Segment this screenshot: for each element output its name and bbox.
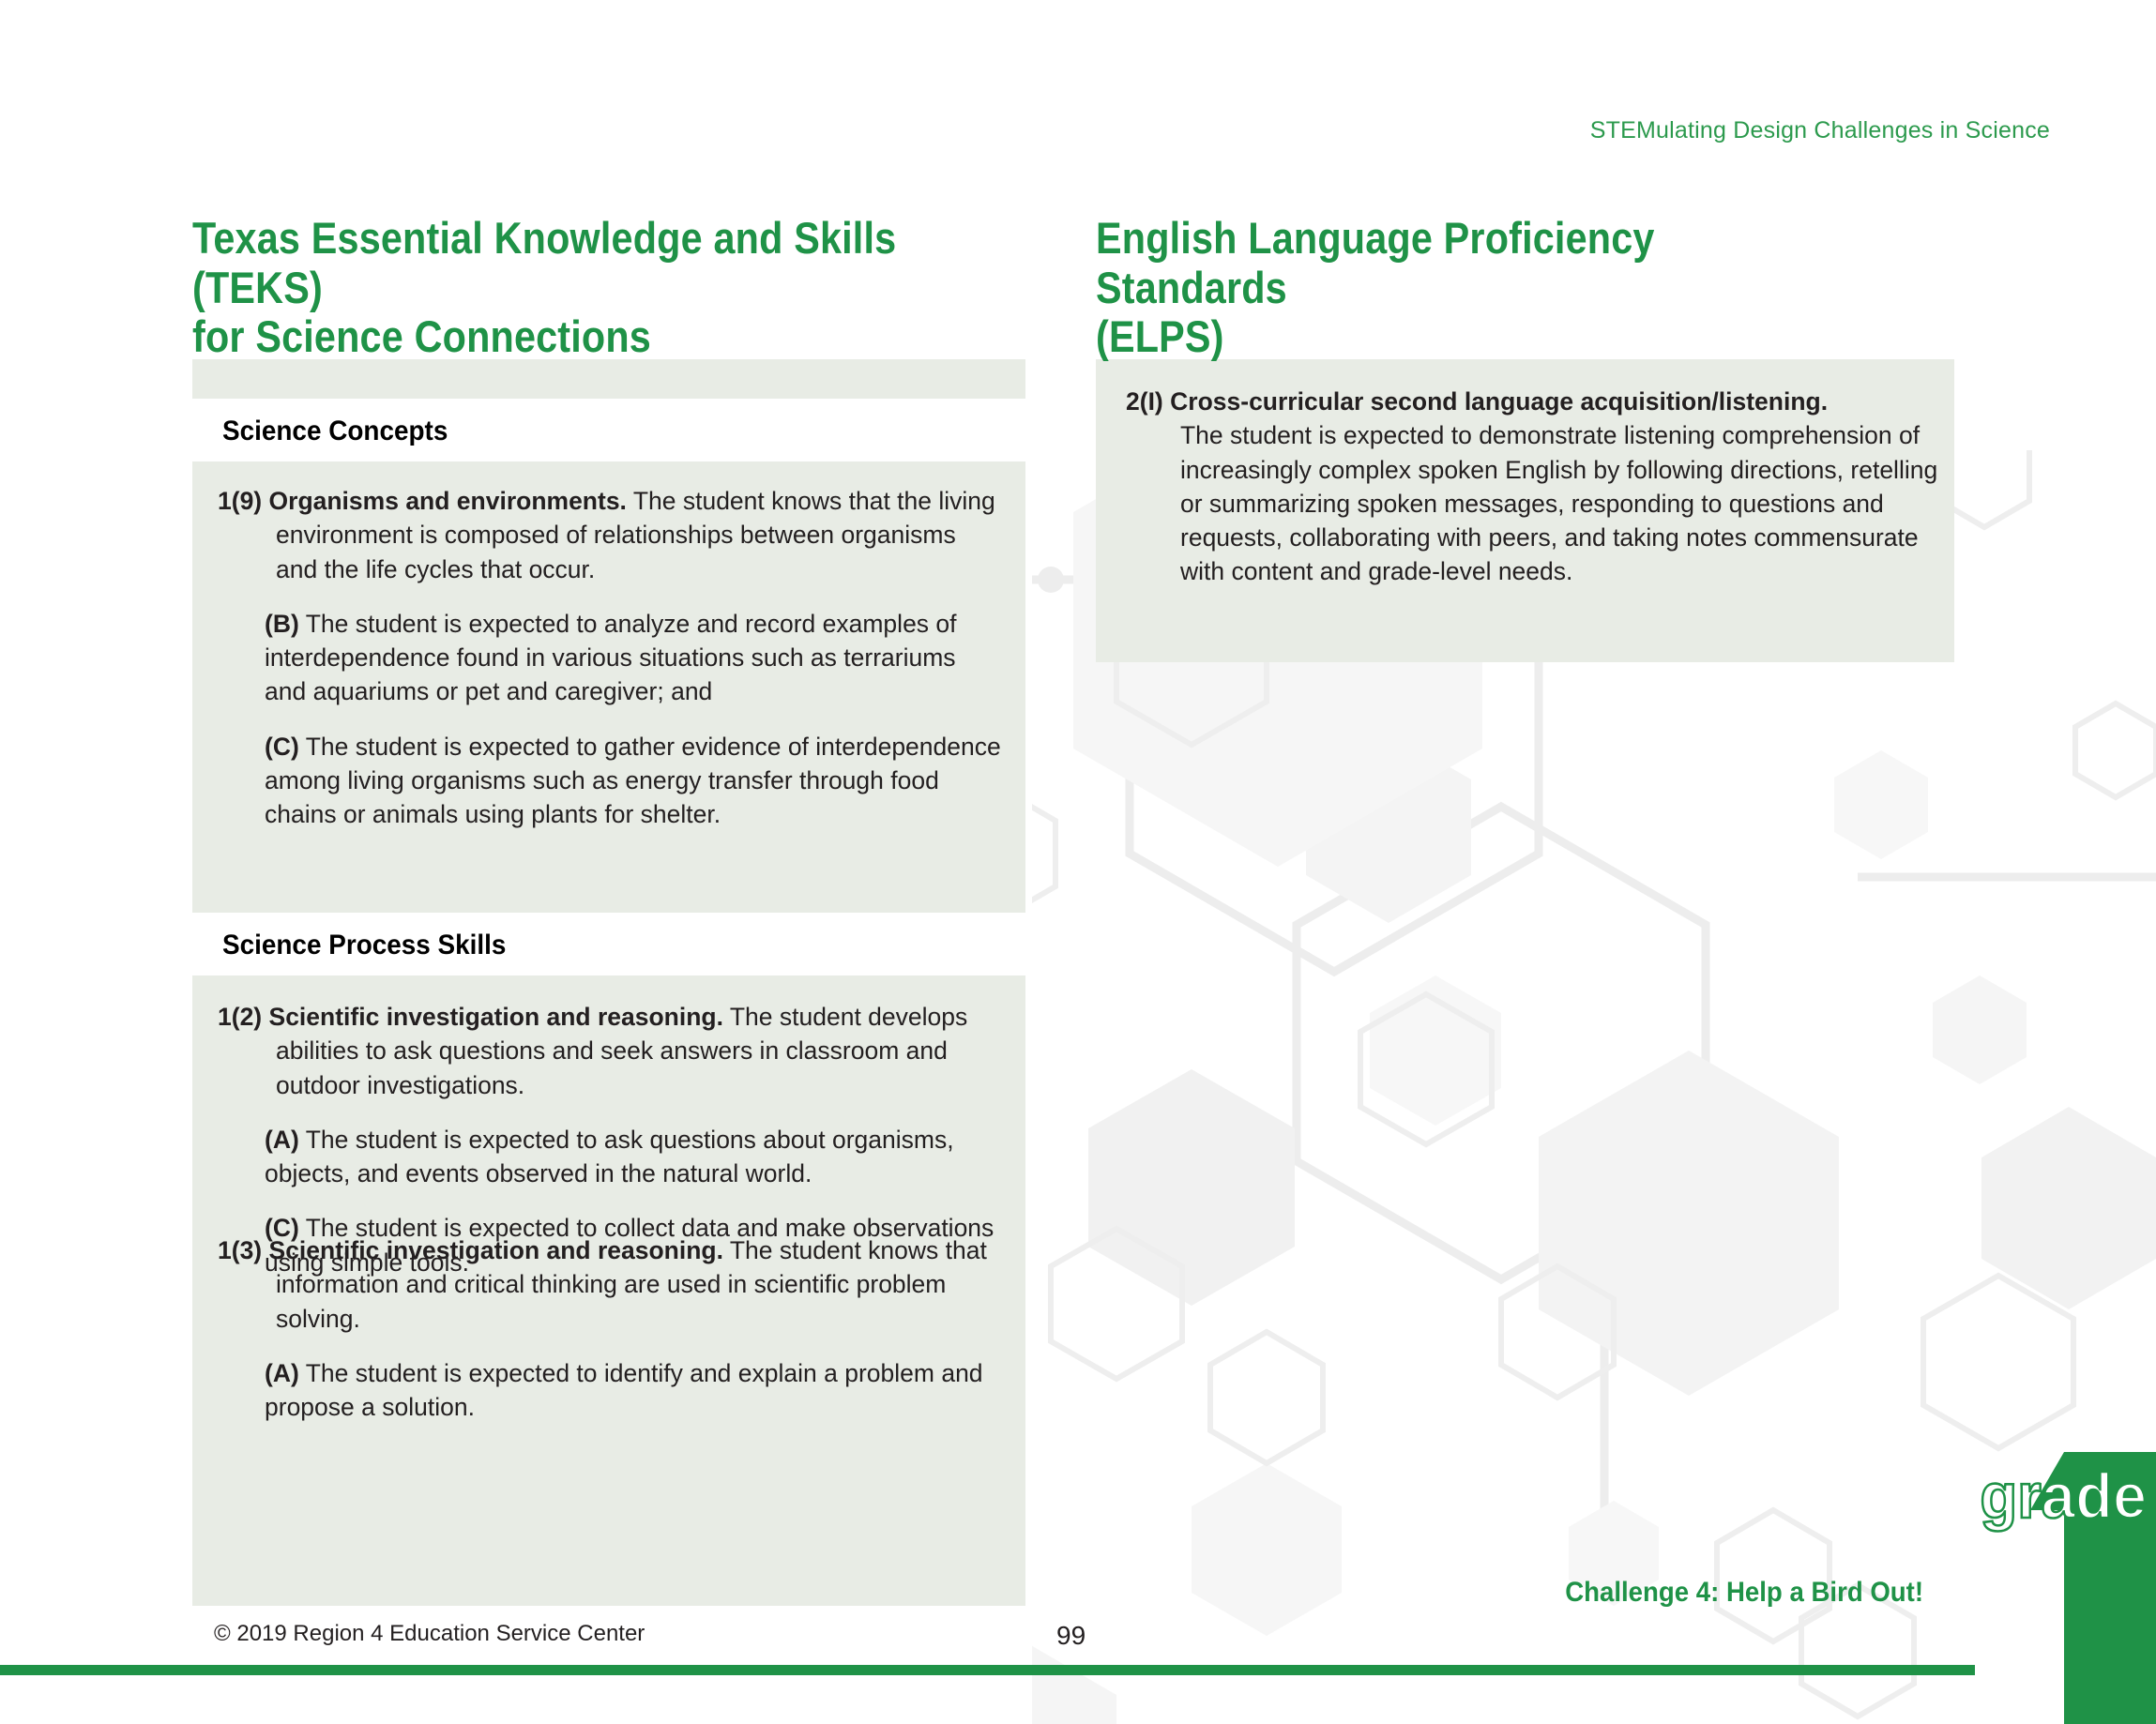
grade-word-text: grade [1980, 1461, 2147, 1532]
standard-sub-item: (A) The student is expected to identify … [218, 1356, 1004, 1425]
page-number: 99 [1056, 1621, 1086, 1651]
teks-panel-top-strip [192, 359, 1025, 399]
standard-block-1-3: 1(3) Scientific investigation and reason… [218, 1233, 1004, 1424]
standard-sub-item: (B) The student is expected to analyze a… [218, 607, 1004, 709]
footer-copyright: © 2019 Region 4 Education Service Center [214, 1621, 645, 1647]
science-process-skills-label: Science Process Skills [222, 930, 506, 961]
teks-heading-line-1: Texas Essential Knowledge and Skills (TE… [192, 214, 977, 312]
standard-sub-item: (C) The student is expected to gather ev… [218, 730, 1004, 832]
standard-title: Scientific investigation and reasoning. [269, 1236, 723, 1264]
teks-column-heading: Texas Essential Knowledge and Skills (TE… [192, 214, 977, 362]
elps-heading-line-1: English Language Proficiency Standards [1096, 214, 1839, 312]
standard-code: 1(9) [218, 487, 262, 515]
elps-column-heading: English Language Proficiency Standards (… [1096, 214, 1839, 362]
sub-item-letter: (B) [265, 610, 299, 638]
standard-lead: 1(3) Scientific investigation and reason… [218, 1233, 1004, 1336]
standard-lead: 1(9) Organisms and environments. The stu… [218, 484, 1004, 586]
science-concepts-label: Science Concepts [222, 416, 448, 447]
running-head: STEMulating Design Challenges in Science [1590, 117, 2050, 144]
standard-code: 1(2) [218, 1003, 262, 1031]
sub-item-letter: (C) [265, 733, 299, 761]
sub-item-text: The student is expected to ask questions… [265, 1126, 954, 1187]
standard-title: Cross-curricular second language acquisi… [1170, 387, 1828, 416]
standard-code: 2(I) [1126, 387, 1163, 416]
standard-block-1-9: 1(9) Organisms and environments. The stu… [218, 484, 1004, 832]
teks-heading-line-2: for Science Connections [192, 312, 977, 362]
standard-body: The student is expected to demonstrate l… [1126, 418, 1940, 588]
sub-item-text: The student is expected to gather eviden… [265, 733, 1001, 829]
standard-lead: 1(2) Scientific investigation and reason… [218, 1000, 1004, 1102]
standard-title: Organisms and environments. [269, 487, 627, 515]
standard-code: 1(3) [218, 1236, 262, 1264]
sub-item-text: The student is expected to analyze and r… [265, 610, 957, 706]
sub-item-letter: (A) [265, 1359, 299, 1387]
standard-lead: 2(I) Cross-curricular second language ac… [1126, 385, 1940, 418]
sub-item-text: The student is expected to identify and … [265, 1359, 983, 1421]
standard-block-2-I: 2(I) Cross-curricular second language ac… [1126, 385, 1940, 589]
sub-item-letter: (A) [265, 1126, 299, 1154]
standard-sub-item: (A) The student is expected to ask quest… [218, 1123, 1004, 1191]
footer-green-rule [0, 1665, 1975, 1675]
page-canvas: STEMulating Design Challenges in Science… [0, 0, 2156, 1724]
standard-title: Scientific investigation and reasoning. [269, 1003, 723, 1031]
elps-heading-line-2: (ELPS) [1096, 312, 1839, 362]
challenge-label: Challenge 4: Help a Bird Out! [1565, 1577, 1923, 1609]
